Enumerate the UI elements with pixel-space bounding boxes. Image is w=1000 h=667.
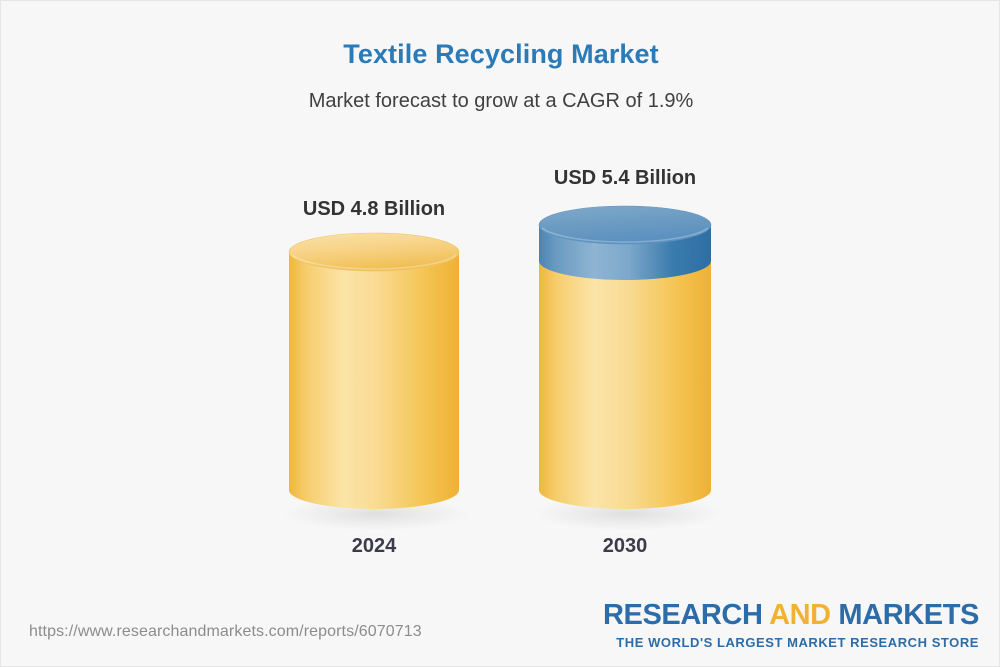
bar-top-2024 [289,233,459,271]
logo-word-markets: MARKETS [838,599,979,631]
cylinder-2024 [289,233,479,533]
bar-group-2024 [289,233,459,511]
chart-plot-area: USD 4.8 Billion 2024 [1,1,1000,601]
bar-body-2024 [289,252,459,509]
cylinder-2030 [539,206,734,536]
bar-top-2030 [539,206,711,244]
brand-logo: RESEARCH AND MARKETS THE WORLD'S LARGEST… [603,601,979,649]
value-label-2024: USD 4.8 Billion [274,198,474,221]
value-label-2030: USD 5.4 Billion [525,167,725,190]
category-label-2030: 2030 [525,535,725,558]
bar-group-2030 [539,206,711,511]
source-url[interactable]: https://www.researchandmarkets.com/repor… [29,623,422,641]
logo-wordmark: RESEARCH AND MARKETS [603,601,979,630]
logo-word-research: RESEARCH [603,599,763,631]
logo-word-and: AND [769,599,831,631]
chart-card: Textile Recycling Market Market forecast… [0,0,1000,667]
bar-body-base-2030 [539,261,711,509]
category-label-2024: 2024 [274,535,474,558]
logo-tagline: THE WORLD'S LARGEST MARKET RESEARCH STOR… [603,636,979,649]
